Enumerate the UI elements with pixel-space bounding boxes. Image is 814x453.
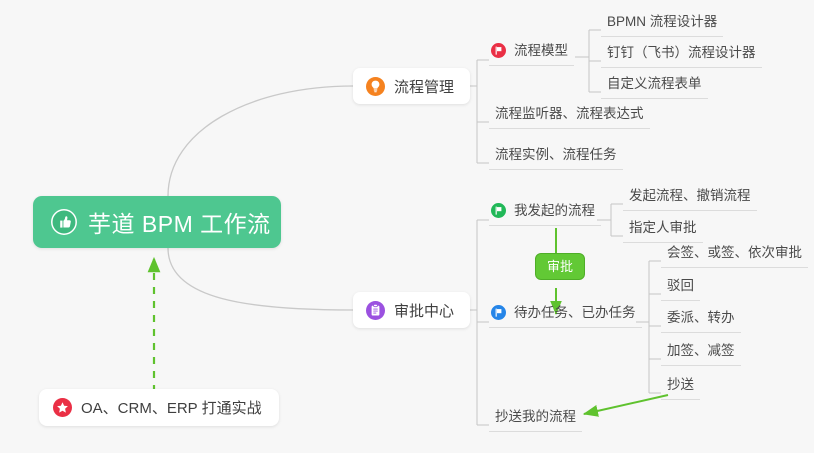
leaf-countersign[interactable]: 会签、或签、依次审批 bbox=[661, 243, 808, 268]
leaf-bpmn-designer[interactable]: BPMN 流程设计器 bbox=[601, 12, 723, 37]
leaf-cc-my-process[interactable]: 抄送我的流程 bbox=[489, 407, 582, 432]
branch-node-approval-center[interactable]: 审批中心 bbox=[353, 292, 470, 328]
leaf-process-model[interactable]: 流程模型 bbox=[489, 41, 574, 66]
mindmap-canvas: 芋道 BPM 工作流 流程管理 审批中心 bbox=[0, 0, 814, 453]
leaf-todo-done-tasks[interactable]: 待办任务、已办任务 bbox=[489, 303, 642, 328]
leaf-process-listener[interactable]: 流程监听器、流程表达式 bbox=[489, 104, 650, 129]
clipboard-icon bbox=[366, 301, 385, 320]
leaf-cc[interactable]: 抄送 bbox=[661, 375, 700, 400]
lightbulb-icon bbox=[366, 77, 385, 96]
flag-icon bbox=[491, 43, 506, 58]
card-integration[interactable]: OA、CRM、ERP 打通实战 bbox=[39, 389, 279, 426]
root-label: 芋道 BPM 工作流 bbox=[88, 205, 271, 239]
card-label: OA、CRM、ERP 打通实战 bbox=[81, 397, 262, 418]
root-node[interactable]: 芋道 BPM 工作流 bbox=[33, 196, 281, 248]
flag-icon bbox=[491, 203, 506, 218]
leaf-add-remove-sign[interactable]: 加签、减签 bbox=[661, 341, 741, 366]
leaf-assignee-approval[interactable]: 指定人审批 bbox=[623, 218, 703, 243]
leaf-reject[interactable]: 驳回 bbox=[661, 276, 700, 301]
leaf-custom-form[interactable]: 自定义流程表单 bbox=[601, 74, 708, 99]
branch-label-approval-center: 审批中心 bbox=[394, 300, 454, 321]
branch-label-process-management: 流程管理 bbox=[394, 76, 454, 97]
leaf-dingtalk-designer[interactable]: 钉钉（飞书）流程设计器 bbox=[601, 43, 762, 68]
leaf-my-initiated-process[interactable]: 我发起的流程 bbox=[489, 201, 601, 226]
leaf-process-instance[interactable]: 流程实例、流程任务 bbox=[489, 145, 623, 170]
leaf-start-cancel-process[interactable]: 发起流程、撤销流程 bbox=[623, 186, 757, 211]
flag-icon bbox=[491, 305, 506, 320]
leaf-label: 流程模型 bbox=[514, 41, 568, 60]
star-icon bbox=[53, 398, 72, 417]
thumbs-up-icon bbox=[51, 209, 77, 235]
leaf-label: 待办任务、已办任务 bbox=[514, 303, 636, 322]
leaf-delegate-transfer[interactable]: 委派、转办 bbox=[661, 308, 741, 333]
annotation-badge-approval: 审批 bbox=[535, 253, 585, 280]
branch-node-process-management[interactable]: 流程管理 bbox=[353, 68, 470, 104]
leaf-label: 我发起的流程 bbox=[514, 201, 595, 220]
